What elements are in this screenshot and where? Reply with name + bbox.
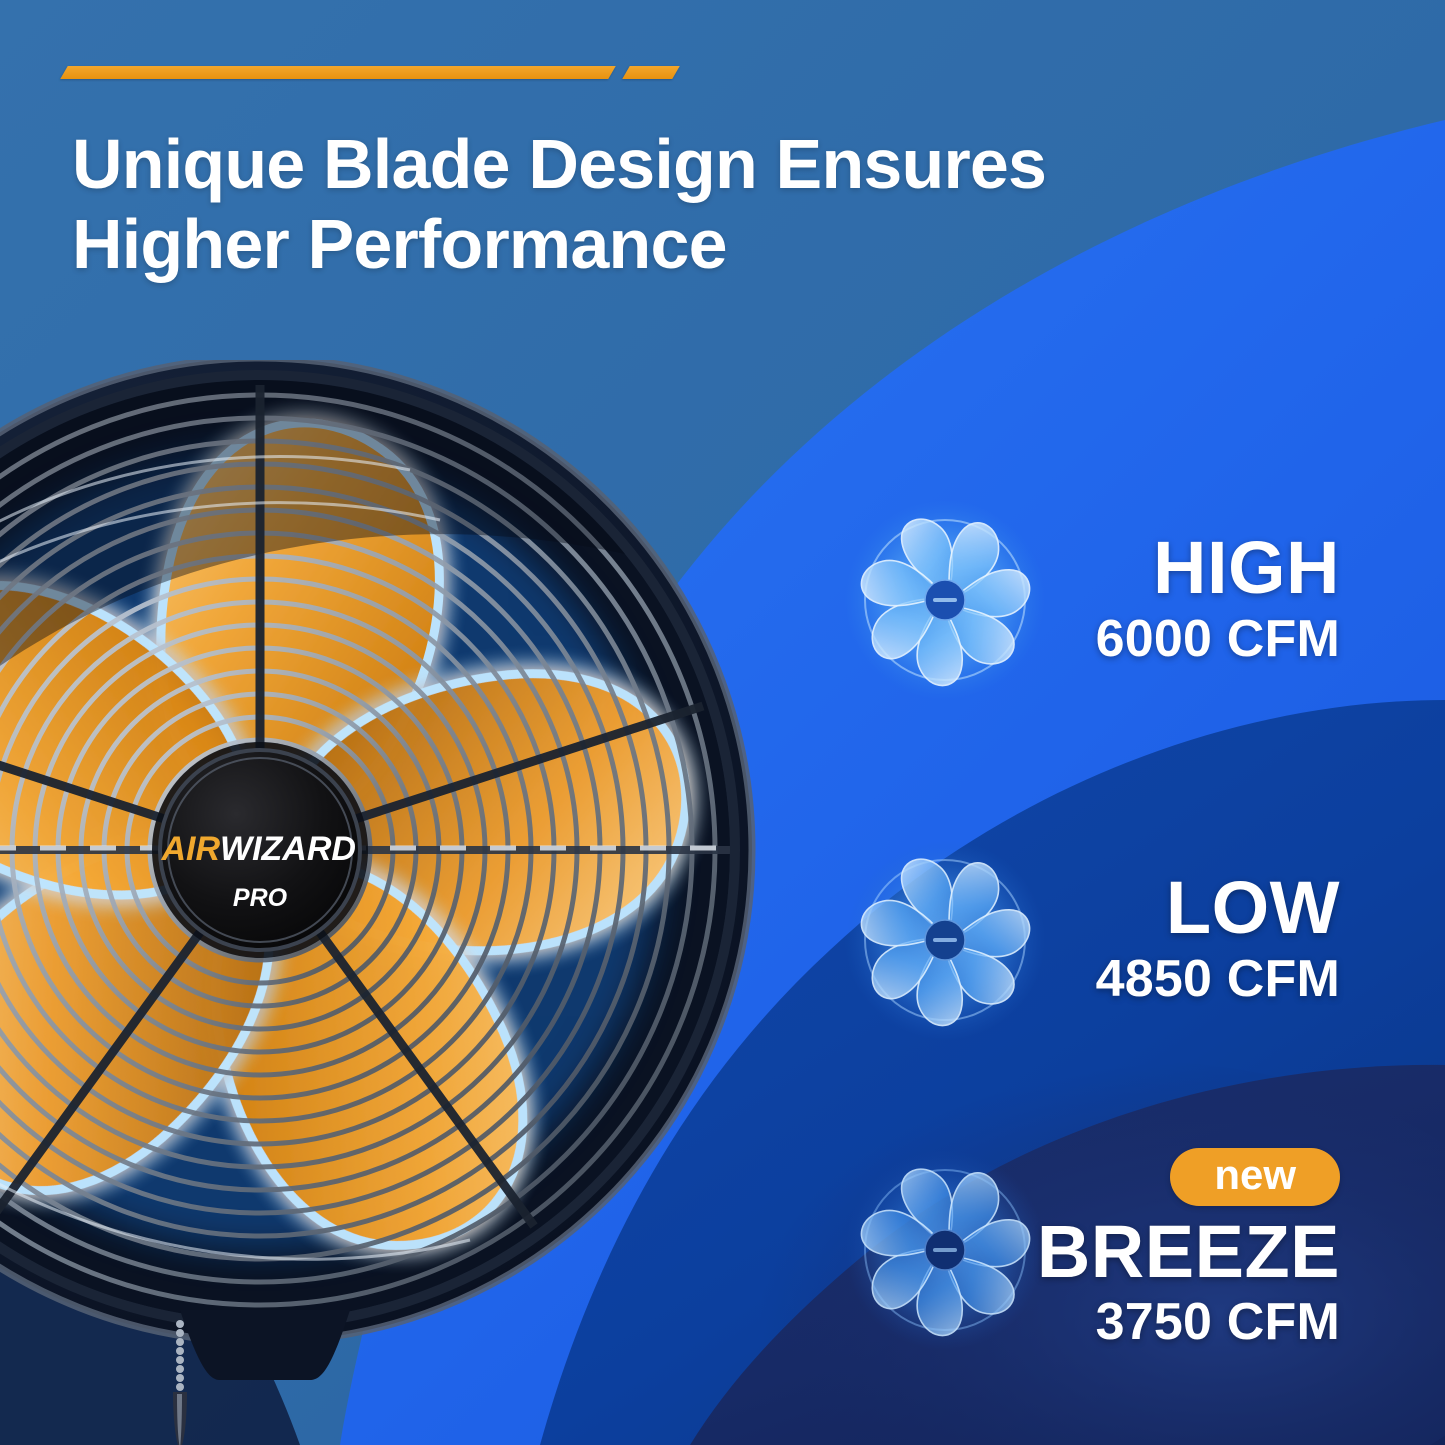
speed-cfm: 3750 CFM: [1096, 1293, 1340, 1351]
headline-line-2: Higher Performance: [72, 205, 1046, 285]
speed-text-low: LOW 4850 CFM: [1090, 872, 1340, 1008]
hub-brand-air: AIR: [160, 830, 220, 868]
hub-brand-wizard: WIZARD: [220, 830, 356, 868]
fan-icon: [840, 835, 1050, 1045]
fan-hub: AIR WIZARD PRO: [152, 742, 368, 958]
speed-name: HIGH: [1153, 532, 1340, 605]
pull-chain[interactable]: [140, 1320, 220, 1445]
fan-interior: [0, 360, 770, 1320]
fan-icon: [840, 495, 1050, 705]
speed-row-high: HIGH 6000 CFM: [840, 495, 1340, 705]
fan-illustration: AIR WIZARD PRO: [0, 360, 770, 1380]
speed-cfm: 6000 CFM: [1096, 610, 1340, 668]
speed-text-high: HIGH 6000 CFM: [1090, 532, 1340, 668]
speed-text-breeze: new BREEZE 3750 CFM: [1090, 1148, 1340, 1351]
speed-row-low: LOW 4850 CFM: [840, 835, 1340, 1045]
speed-cfm: 4850 CFM: [1096, 950, 1340, 1008]
fan-icon-breeze-wrap: [840, 1145, 1050, 1355]
headline-line-1: Unique Blade Design Ensures: [72, 125, 1046, 203]
status-badge: new: [1170, 1148, 1340, 1205]
product-fan-image: AIR WIZARD PRO: [0, 360, 770, 1380]
speed-row-breeze: new BREEZE 3750 CFM: [840, 1145, 1340, 1355]
speed-name: LOW: [1166, 872, 1340, 945]
marketing-banner: Unique Blade Design Ensures Higher Perfo…: [0, 0, 1445, 1445]
fan-icon-high-wrap: [840, 495, 1050, 705]
fan-icon-low-wrap: [840, 835, 1050, 1045]
page-title: Unique Blade Design Ensures Higher Perfo…: [72, 125, 1046, 285]
accent-rule: [64, 66, 676, 79]
pull-chain-icon[interactable]: [140, 1320, 220, 1445]
hub-brand-sub: PRO: [233, 884, 288, 912]
speed-name: BREEZE: [1037, 1216, 1340, 1289]
accent-bar-long-icon: [60, 66, 616, 79]
accent-bar-short-icon: [622, 66, 680, 79]
fan-icon: [840, 1145, 1050, 1355]
